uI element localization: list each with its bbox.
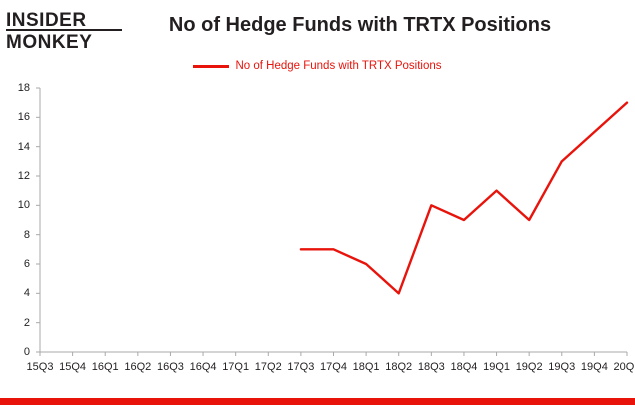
logo-text-line1: INSIDER bbox=[6, 11, 87, 30]
x-axis-tick-label: 18Q2 bbox=[382, 362, 416, 373]
y-axis-tick-label: 4 bbox=[8, 288, 30, 299]
x-axis-tick-label: 15Q4 bbox=[56, 362, 90, 373]
logo-text-line2: MONKEY bbox=[6, 33, 92, 52]
y-axis-tick-label: 8 bbox=[8, 230, 30, 241]
x-axis-tick-label: 19Q4 bbox=[577, 362, 611, 373]
insider-monkey-logo: INSIDER MONKEY bbox=[6, 10, 124, 56]
y-axis-tick-label: 2 bbox=[8, 318, 30, 329]
plot-area: 02468101214161815Q315Q416Q116Q216Q316Q41… bbox=[0, 80, 635, 380]
page-title: No of Hedge Funds with TRTX Positions bbox=[130, 14, 590, 37]
x-axis-tick-label: 17Q1 bbox=[219, 362, 253, 373]
x-axis-tick-label: 19Q1 bbox=[480, 362, 514, 373]
x-axis-tick-label: 18Q4 bbox=[447, 362, 481, 373]
logo-divider bbox=[6, 29, 122, 31]
y-axis-tick-label: 16 bbox=[8, 112, 30, 123]
series-line-0 bbox=[301, 103, 627, 294]
x-axis-tick-label: 16Q3 bbox=[153, 362, 187, 373]
line-chart-svg bbox=[0, 80, 635, 380]
y-axis-tick-label: 0 bbox=[8, 347, 30, 358]
x-axis-tick-label: 16Q2 bbox=[121, 362, 155, 373]
y-axis-tick-label: 18 bbox=[8, 83, 30, 94]
x-axis-tick-label: 16Q4 bbox=[186, 362, 220, 373]
y-axis-tick-label: 6 bbox=[8, 259, 30, 270]
x-axis-tick-label: 17Q2 bbox=[251, 362, 285, 373]
legend-swatch-series-0 bbox=[193, 65, 229, 68]
x-axis-tick-label: 18Q3 bbox=[414, 362, 448, 373]
x-axis-tick-label: 17Q4 bbox=[317, 362, 351, 373]
x-axis-tick-label: 16Q1 bbox=[88, 362, 122, 373]
chart-page: INSIDER MONKEY No of Hedge Funds with TR… bbox=[0, 0, 635, 405]
x-axis-tick-label: 20Q1 bbox=[610, 362, 635, 373]
x-axis-tick-label: 19Q3 bbox=[545, 362, 579, 373]
x-axis-tick-label: 17Q3 bbox=[284, 362, 318, 373]
chart-legend: No of Hedge Funds with TRTX Positions bbox=[0, 56, 635, 76]
x-axis-tick-label: 19Q2 bbox=[512, 362, 546, 373]
x-axis-tick-label: 15Q3 bbox=[23, 362, 57, 373]
legend-label-series-0: No of Hedge Funds with TRTX Positions bbox=[235, 60, 441, 72]
y-axis-tick-label: 14 bbox=[8, 142, 30, 153]
y-axis-tick-label: 10 bbox=[8, 200, 30, 211]
footer-accent-bar bbox=[0, 398, 635, 405]
x-axis-tick-label: 18Q1 bbox=[349, 362, 383, 373]
y-axis-tick-label: 12 bbox=[8, 171, 30, 182]
